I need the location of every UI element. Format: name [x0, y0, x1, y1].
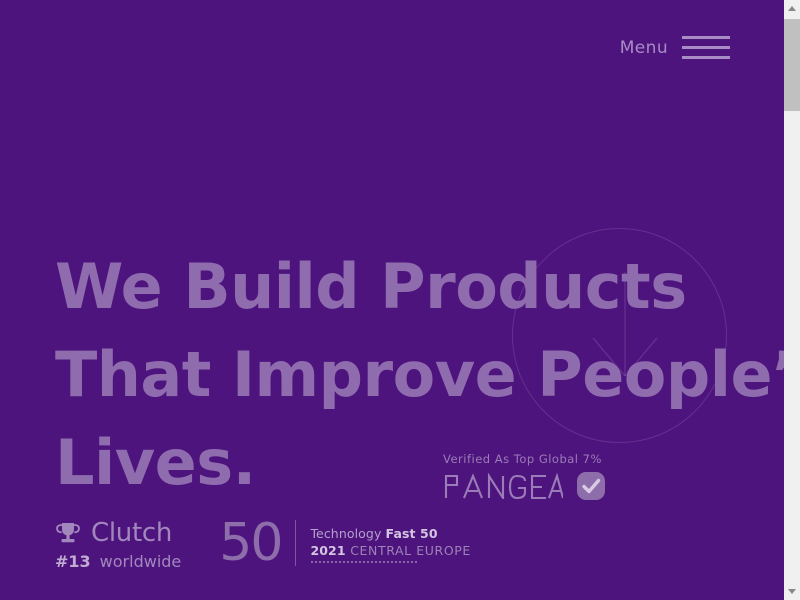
hamburger-icon[interactable] [682, 36, 730, 59]
trophy-icon [55, 521, 81, 545]
site-header: Menu [620, 36, 730, 59]
fast50-divider [295, 520, 296, 566]
hero-line-1: We Build Products [55, 243, 755, 331]
check-badge-icon [576, 471, 606, 501]
vertical-scrollbar[interactable] [784, 0, 800, 600]
menu-label[interactable]: Menu [620, 38, 668, 58]
scrollbar-thumb[interactable] [784, 19, 800, 111]
clutch-rank-row: #13 worldwide [55, 552, 181, 571]
clutch-badge[interactable]: Clutch #13 worldwide [55, 515, 181, 571]
fast50-line-2: 2021 CENTRAL EUROPE [310, 543, 470, 558]
scroll-down-arrow-icon[interactable] [784, 583, 800, 600]
clutch-title-row: Clutch [55, 518, 181, 548]
scroll-up-arrow-icon[interactable] [784, 0, 800, 17]
scroll-up-triangle [788, 6, 796, 11]
page-viewport: Menu We Build Products That Improve Peop… [0, 0, 784, 600]
hamburger-line-3 [682, 56, 730, 59]
pangea-badge[interactable]: Verified As Top Global 7% [443, 452, 606, 501]
pangea-logo-row [443, 471, 606, 501]
pangea-wordmark [443, 473, 563, 499]
hamburger-line-2 [682, 46, 730, 49]
awards-strip: Clutch #13 worldwide 50 Technology Fast … [55, 515, 471, 571]
deloitte-fast50-badge[interactable]: 50 Technology Fast 50 2021 CENTRAL EUROP… [219, 515, 471, 569]
pangea-caption: Verified As Top Global 7% [443, 452, 606, 466]
clutch-rank: #13 [55, 552, 91, 571]
clutch-name: Clutch [91, 518, 172, 548]
fast50-line-1: Technology Fast 50 [310, 526, 470, 541]
fast50-text-block: Technology Fast 50 2021 CENTRAL EUROPE [310, 524, 470, 563]
hamburger-line-1 [682, 36, 730, 39]
browser-page: Menu We Build Products That Improve Peop… [0, 0, 800, 600]
hero-line-3: Lives. [55, 419, 755, 507]
fast50-region: CENTRAL EUROPE [346, 543, 471, 558]
fast50-number: 50 [219, 517, 281, 569]
fast50-dotted-rule [310, 561, 418, 563]
hero-heading: We Build Products That Improve People’s … [55, 243, 755, 507]
hero-line-2: That Improve People’s [55, 331, 755, 419]
fast50-year: 2021 [310, 543, 345, 558]
scroll-down-triangle [788, 589, 796, 594]
fast50-award-label: Fast 50 [386, 526, 438, 541]
clutch-scope: worldwide [100, 552, 182, 571]
fast50-technology-label: Technology [310, 526, 385, 541]
